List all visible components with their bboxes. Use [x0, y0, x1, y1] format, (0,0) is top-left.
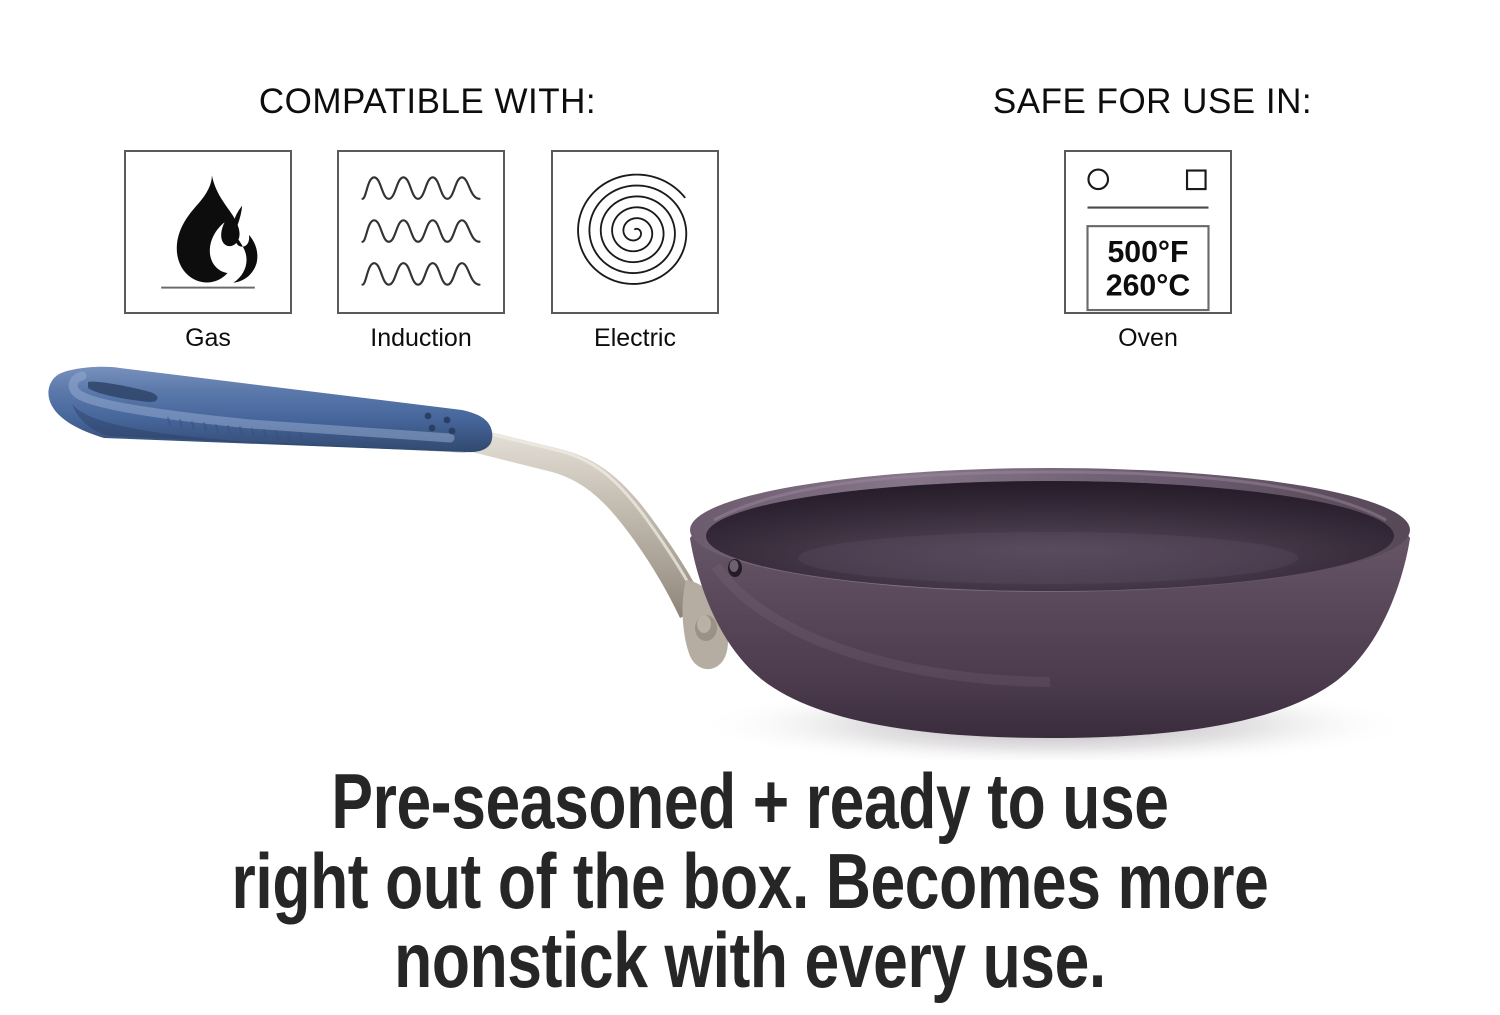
- frying-pan-product-image: [0, 330, 1500, 760]
- oven-icon: 500°F 260°C: [1066, 152, 1230, 312]
- pan-metal-shank: [464, 427, 706, 618]
- compatible-with-heading: COMPATIBLE WITH:: [0, 82, 855, 122]
- headline-line-2: right out of the box. Becomes more: [150, 842, 1350, 922]
- compatibility-item-induction: Induction: [337, 150, 505, 351]
- safe-for-use-in-heading: SAFE FOR USE IN:: [905, 82, 1400, 122]
- marketing-headline: Pre-seasoned + ready to use right out of…: [0, 762, 1500, 1001]
- flame-icon: [126, 152, 290, 312]
- electric-coil-spiral-icon: [553, 152, 717, 312]
- pan-body: [690, 468, 1410, 738]
- compatibility-item-gas: Gas: [124, 150, 292, 351]
- oven-knob-square-icon: [1187, 171, 1206, 190]
- headline-line-3: nonstick with every use.: [150, 921, 1350, 1001]
- induction-icon-box: [337, 150, 505, 314]
- product-infographic: COMPATIBLE WITH: SAFE FOR USE IN: Gas In…: [0, 0, 1500, 1015]
- safe-use-item-oven: 500°F 260°C Oven: [1064, 150, 1232, 351]
- frying-pan-illustration: [0, 330, 1500, 760]
- compatibility-item-electric: Electric: [551, 150, 719, 351]
- oven-temp-fahrenheit: 500°F: [1107, 236, 1188, 269]
- gas-icon-box: [124, 150, 292, 314]
- headline-line-1: Pre-seasoned + ready to use: [150, 762, 1350, 842]
- oven-knob-circle-icon: [1088, 170, 1108, 190]
- oven-icon-box: 500°F 260°C: [1064, 150, 1232, 314]
- oven-temp-celsius: 260°C: [1106, 269, 1190, 302]
- electric-icon-box: [551, 150, 719, 314]
- induction-waves-icon: [339, 152, 503, 312]
- pan-blue-silicone-handle: [48, 367, 492, 453]
